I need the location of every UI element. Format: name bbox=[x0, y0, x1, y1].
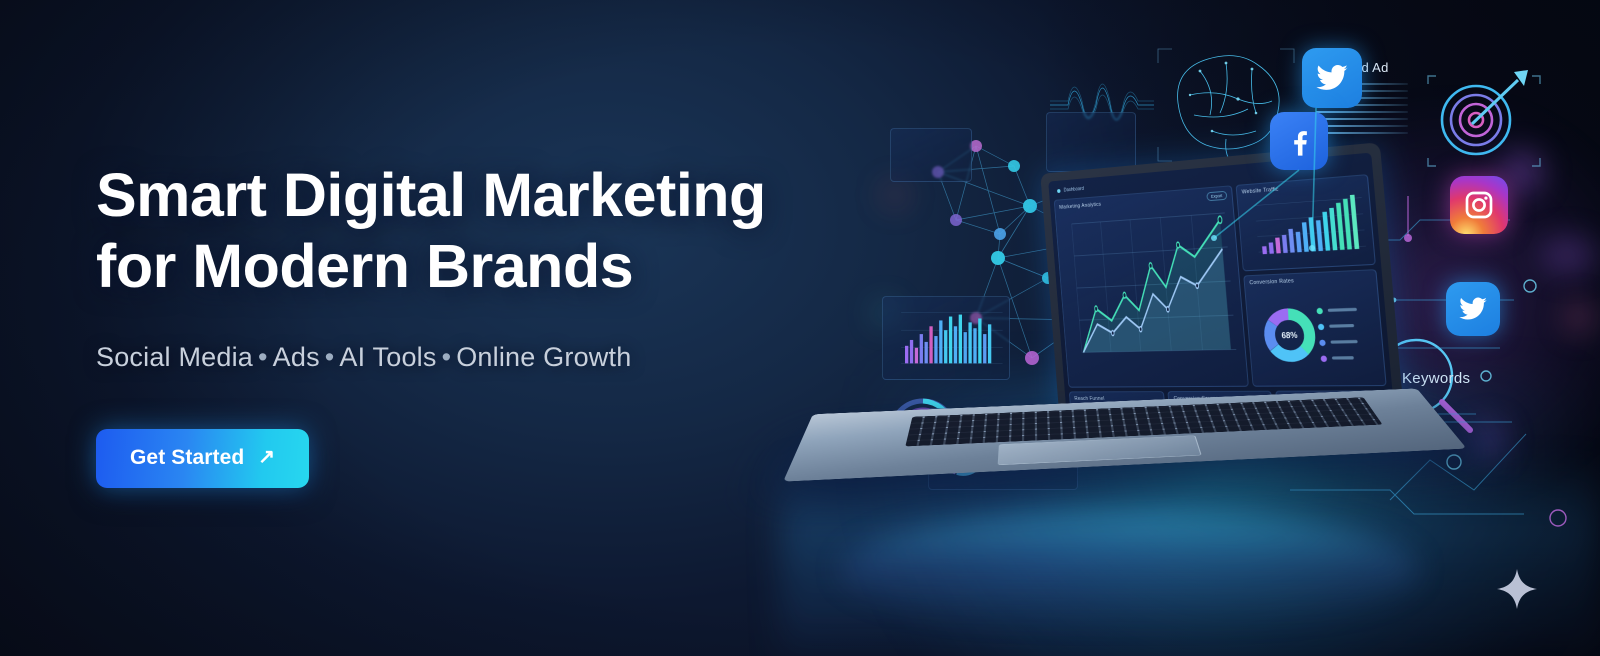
laptop-reflection bbox=[840, 510, 1420, 630]
twitter-icon-secondary[interactable] bbox=[1446, 282, 1500, 336]
dashboard-right-column: Website Traffic bbox=[1235, 174, 1386, 387]
instagram-camera-glyph bbox=[1463, 189, 1495, 221]
panel-conversion-rates[interactable]: Conversion Rates 68% bbox=[1243, 269, 1387, 387]
facebook-icon[interactable] bbox=[1270, 112, 1328, 170]
hero-graphic: AI Targeted Ad bbox=[810, 0, 1600, 656]
facebook-f-glyph bbox=[1283, 125, 1315, 157]
twitter-bird-glyph bbox=[1458, 294, 1488, 324]
subhead-separator: • bbox=[320, 342, 340, 372]
bar-chart-traffic bbox=[1242, 188, 1369, 266]
get-started-button[interactable]: Get Started ↗ bbox=[96, 429, 309, 488]
donut-center-value: 68% bbox=[1281, 330, 1298, 340]
laptop-lid: Dashboard Marketing Analytics Export bbox=[1040, 142, 1405, 428]
twitter-bird-glyph bbox=[1315, 61, 1349, 95]
line-chart-marketing bbox=[1060, 200, 1243, 383]
twitter-icon[interactable] bbox=[1302, 48, 1362, 108]
get-started-label: Get Started bbox=[130, 446, 244, 470]
panel-marketing-analytics[interactable]: Marketing Analytics Export bbox=[1054, 185, 1249, 388]
cta-container: Get Started ↗ bbox=[96, 429, 856, 488]
target-bullseye-icon bbox=[1420, 54, 1544, 178]
headline-line-1: Smart Digital Marketing bbox=[96, 161, 766, 229]
laptop-base bbox=[783, 388, 1467, 481]
subhead-part-1: Ads bbox=[273, 342, 320, 372]
donut-chart-conversion: 68% bbox=[1250, 283, 1380, 382]
dashboard-grid: Marketing Analytics Export bbox=[1054, 174, 1389, 409]
sparkle-star-icon bbox=[1496, 568, 1538, 610]
subhead-part-3: Online Growth bbox=[456, 342, 631, 372]
dashboard-screen: Dashboard Marketing Analytics Export bbox=[1048, 153, 1394, 415]
hero-subhead: Social Media•Ads•AI Tools•Online Growth bbox=[96, 342, 856, 373]
window-dot-icon bbox=[1057, 189, 1061, 193]
hero-copy: Smart Digital Marketing for Modern Brand… bbox=[96, 160, 856, 488]
instagram-icon[interactable] bbox=[1450, 176, 1508, 234]
panel-website-traffic[interactable]: Website Traffic bbox=[1235, 174, 1375, 271]
hero-banner: Smart Digital Marketing for Modern Brand… bbox=[0, 0, 1600, 656]
page-title: Smart Digital Marketing for Modern Brand… bbox=[96, 160, 856, 302]
subhead-part-2: AI Tools bbox=[339, 342, 436, 372]
arrow-up-right-icon: ↗ bbox=[258, 447, 275, 467]
dashboard-window-title: Dashboard bbox=[1063, 186, 1084, 193]
headline-line-2: for Modern Brands bbox=[96, 231, 856, 302]
subhead-part-0: Social Media bbox=[96, 342, 253, 372]
subhead-separator: • bbox=[253, 342, 273, 372]
subhead-separator: • bbox=[437, 342, 457, 372]
laptop-mockup: Dashboard Marketing Analytics Export bbox=[820, 158, 1430, 518]
